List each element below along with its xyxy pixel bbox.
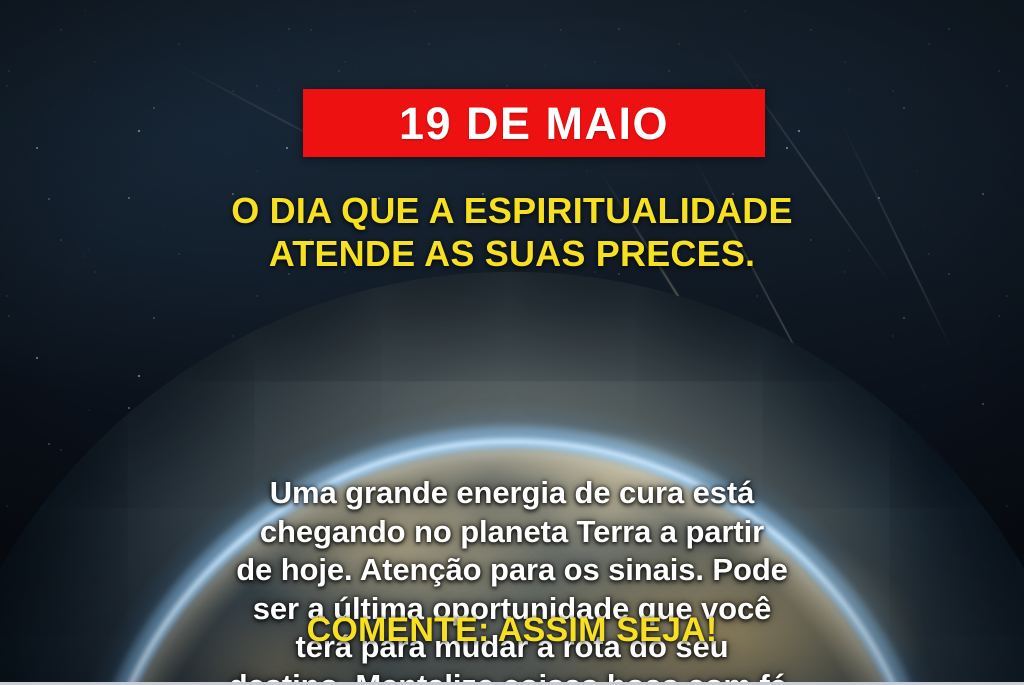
poster-content: 19 DE MAIO O DIA QUE A ESPIRITUALIDADE A…	[0, 0, 1024, 685]
headline: O DIA QUE A ESPIRITUALIDADE ATENDE AS SU…	[0, 190, 1024, 275]
body-line-3: de hoje. Atenção para os sinais. Pode	[50, 551, 974, 590]
body-line-2: chegando no planeta Terra a partir	[50, 513, 974, 552]
body-line-1: Uma grande energia de cura está	[50, 474, 974, 513]
body-paragraph: Uma grande energia de cura está chegando…	[50, 474, 974, 685]
call-to-action-text: COMENTE: ASSIM SEJA!	[0, 613, 1024, 647]
date-banner-label: 19 DE MAIO	[399, 101, 669, 146]
headline-line-1: O DIA QUE A ESPIRITUALIDADE	[0, 190, 1024, 232]
poster-canvas: 19 DE MAIO O DIA QUE A ESPIRITUALIDADE A…	[0, 0, 1024, 685]
date-banner: 19 DE MAIO	[303, 89, 765, 157]
headline-line-2: ATENDE AS SUAS PRECES.	[0, 233, 1024, 275]
